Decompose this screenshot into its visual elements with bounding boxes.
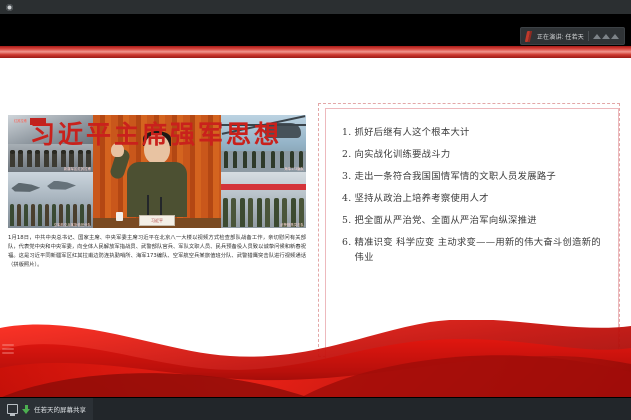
bullet-item: 4. 坚持从政治上培养考察使用人才 bbox=[342, 191, 604, 206]
photo-caption: 海军173编队 bbox=[285, 166, 304, 171]
bullet-text: 坚持从政治上培养考察使用人才 bbox=[354, 191, 604, 206]
presenter-share-pill[interactable]: 正在演讲: 任若天 bbox=[520, 27, 625, 45]
nameplate: 习近平 bbox=[139, 215, 175, 226]
airfield-formation-photo: 空军航空兵某旅值班分队 bbox=[8, 172, 93, 229]
bullet-number: 1. bbox=[342, 125, 351, 140]
pill-divider bbox=[588, 31, 589, 41]
taskbar-item-label: 任若天的屏幕共享 bbox=[34, 404, 86, 414]
bullet-text: 精准识变 科学应变 主动求变——用新的伟大奋斗创造新的伟业 bbox=[354, 235, 604, 265]
photo-caption: 空军航空兵某旅值班分队 bbox=[54, 222, 91, 227]
screen-share-icon bbox=[524, 31, 533, 42]
bullet-number: 5. bbox=[342, 213, 351, 228]
nameplate-text: 习近平 bbox=[151, 218, 163, 224]
chevron-collapse-icon[interactable] bbox=[593, 34, 621, 39]
bullet-item: 5. 把全面从严治党、全面从严治军向纵深推进 bbox=[342, 213, 604, 228]
bullet-item: 6. 精准识变 科学应变 主动求变——用新的伟大奋斗创造新的伟业 bbox=[342, 235, 604, 265]
bullet-text: 把全面从严治党、全面从严治军向纵深推进 bbox=[354, 213, 604, 228]
bullet-text: 抓好后继有人这个根本大计 bbox=[354, 125, 604, 140]
download-icon bbox=[22, 405, 30, 414]
presentation-slide: 红其拉甫 新疆军区红其拉甫 空军航空兵某旅值班分队 bbox=[0, 46, 631, 398]
slide-caption: 1月18日，中共中央总书记、国家主席、中央军委主席习近平在北京八一大楼以视频方式… bbox=[8, 234, 306, 270]
taskbar-item-screen-share[interactable]: 任若天的屏幕共享 bbox=[0, 398, 93, 420]
presenter-label: 正在演讲: 任若天 bbox=[537, 32, 584, 41]
bullet-number: 4. bbox=[342, 191, 351, 206]
bullet-number: 3. bbox=[342, 169, 351, 184]
slide-top-band bbox=[0, 46, 631, 58]
bullet-item: 1. 抓好后继有人这个根本大计 bbox=[342, 125, 604, 140]
remote-top-bar bbox=[0, 0, 631, 14]
photo-caption: 武警猎鹰突击队 bbox=[280, 222, 304, 227]
app-status-dot-icon bbox=[6, 4, 13, 11]
red-silk-decoration bbox=[0, 320, 631, 398]
bullet-number: 6. bbox=[342, 235, 351, 265]
window-icon bbox=[7, 404, 18, 414]
letterbox-gap bbox=[0, 14, 631, 24]
bullet-text: 走出一条符合我国国情军情的文职人员发展路子 bbox=[354, 169, 604, 184]
bullet-text: 向实战化训练要战斗力 bbox=[354, 147, 604, 162]
taskbar: 任若天的屏幕共享 bbox=[0, 397, 631, 420]
watermark-icon bbox=[2, 344, 14, 358]
bullet-item: 2. 向实战化训练要战斗力 bbox=[342, 147, 604, 162]
armed-police-falcon-photo: 武警猎鹰突击队 bbox=[221, 172, 306, 229]
photo-caption: 新疆军区红其拉甫 bbox=[64, 166, 91, 171]
photo-overlay-label: 红其拉甫 bbox=[14, 118, 27, 123]
screen-share-viewer: 正在演讲: 任若天 红其拉甫 新疆军区红其拉甫 空军航空兵某旅值班分队 bbox=[0, 0, 631, 420]
bullet-number: 2. bbox=[342, 147, 351, 162]
slide-title: 习近平主席强军思想 bbox=[30, 122, 282, 147]
bullet-item: 3. 走出一条符合我国国情军情的文职人员发展路子 bbox=[342, 169, 604, 184]
